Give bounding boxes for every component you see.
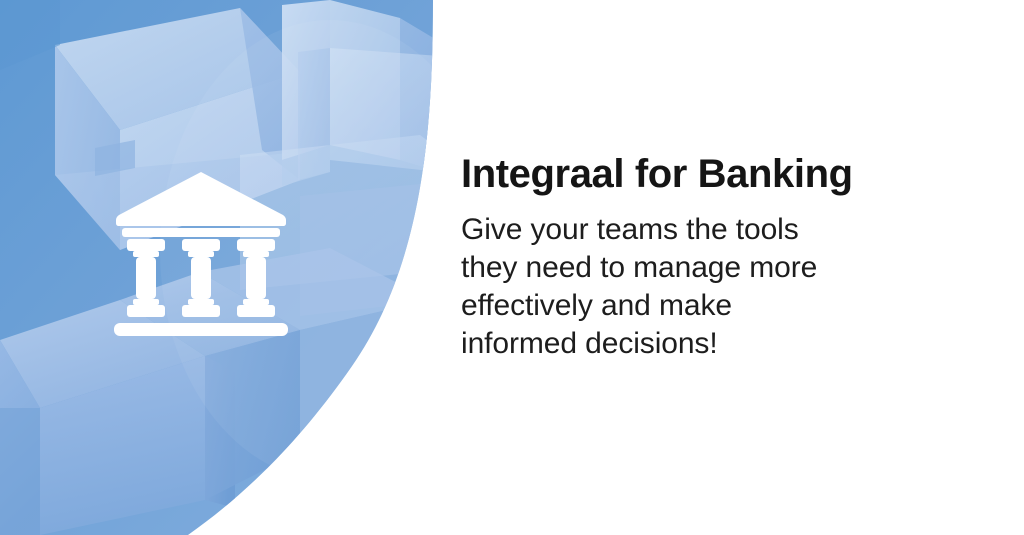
bank-icon bbox=[113, 168, 289, 340]
subtitle-line-4: informed decisions! bbox=[461, 325, 981, 363]
page-title: Integraal for Banking bbox=[461, 152, 981, 197]
text-content: Integraal for Banking Give your teams th… bbox=[461, 152, 981, 363]
page-subtitle: Give your teams the tools they need to m… bbox=[461, 211, 981, 363]
subtitle-line-3: effectively and make bbox=[461, 287, 981, 325]
banner: Integraal for Banking Give your teams th… bbox=[0, 0, 1024, 535]
subtitle-line-1: Give your teams the tools bbox=[461, 211, 981, 249]
subtitle-line-2: they need to manage more bbox=[461, 249, 981, 287]
